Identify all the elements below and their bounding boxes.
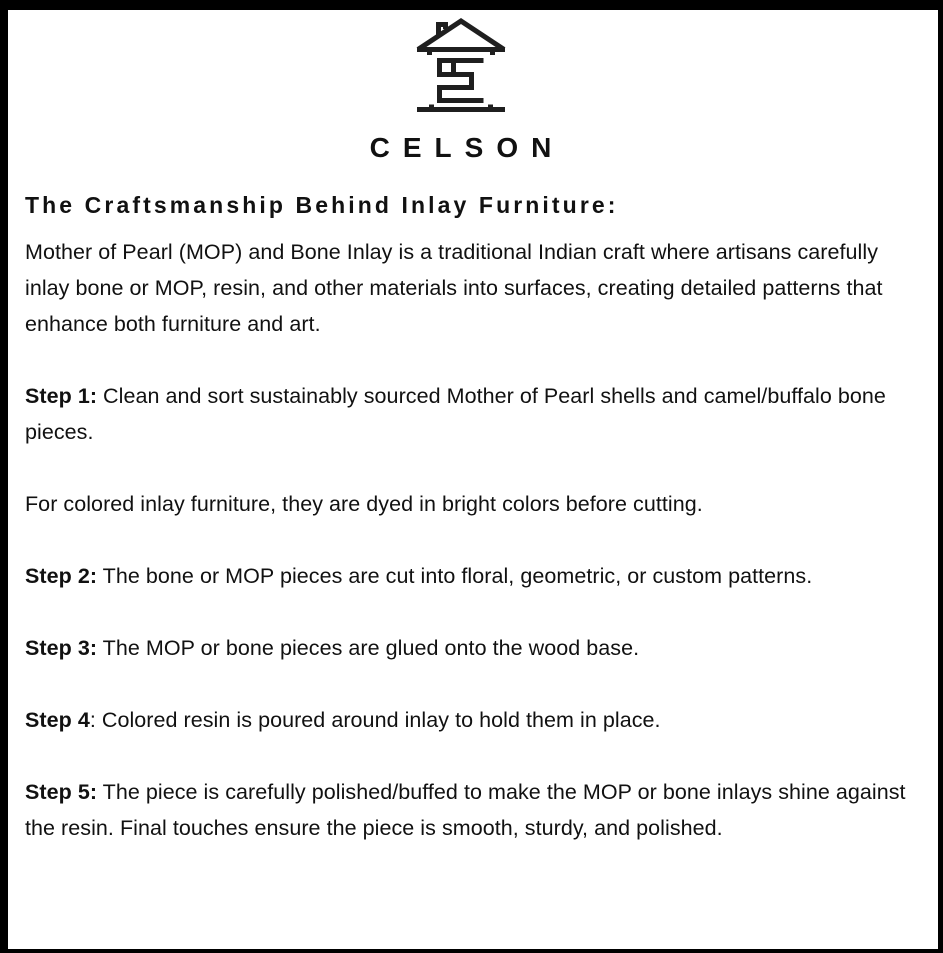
paragraph-step-5: Step 5: The piece is carefully polished/… xyxy=(25,774,909,846)
paragraph-step-2: Step 2: The bone or MOP pieces are cut i… xyxy=(25,558,909,594)
house-monogram-logo-icon xyxy=(409,16,513,120)
paragraph-text: Mother of Pearl (MOP) and Bone Inlay is … xyxy=(25,240,883,336)
paragraph-lead: Step 3: xyxy=(25,636,97,660)
body-copy: Mother of Pearl (MOP) and Bone Inlay is … xyxy=(25,234,909,846)
paragraph-text: : Colored resin is poured around inlay t… xyxy=(90,708,661,732)
paragraph-text: The bone or MOP pieces are cut into flor… xyxy=(97,564,812,588)
paragraph-lead: Step 1: xyxy=(25,384,97,408)
poster-content: CELSON The Craftsmanship Behind Inlay Fu… xyxy=(8,10,938,949)
paragraph-text: For colored inlay furniture, they are dy… xyxy=(25,492,703,516)
brand-wordmark: CELSON xyxy=(17,134,904,162)
paragraph-lead: Step 4 xyxy=(25,708,90,732)
paragraph-text: Clean and sort sustainably sourced Mothe… xyxy=(25,384,886,444)
poster-frame: CELSON The Craftsmanship Behind Inlay Fu… xyxy=(0,0,943,953)
paragraph-text: The piece is carefully polished/buffed t… xyxy=(25,780,906,840)
paragraph-step-1: Step 1: Clean and sort sustainably sourc… xyxy=(25,378,909,450)
paragraph-step-3: Step 3: The MOP or bone pieces are glued… xyxy=(25,630,909,666)
page-title: The Craftsmanship Behind Inlay Furniture… xyxy=(25,192,904,220)
brand-block: CELSON xyxy=(17,16,904,162)
paragraph-step-4: Step 4: Colored resin is poured around i… xyxy=(25,702,909,738)
paragraph-note-dye: For colored inlay furniture, they are dy… xyxy=(25,486,909,522)
paragraph-lead: Step 2: xyxy=(25,564,97,588)
paragraph-lead: Step 5: xyxy=(25,780,97,804)
paragraph-intro: Mother of Pearl (MOP) and Bone Inlay is … xyxy=(25,234,909,342)
paragraph-text: The MOP or bone pieces are glued onto th… xyxy=(97,636,639,660)
